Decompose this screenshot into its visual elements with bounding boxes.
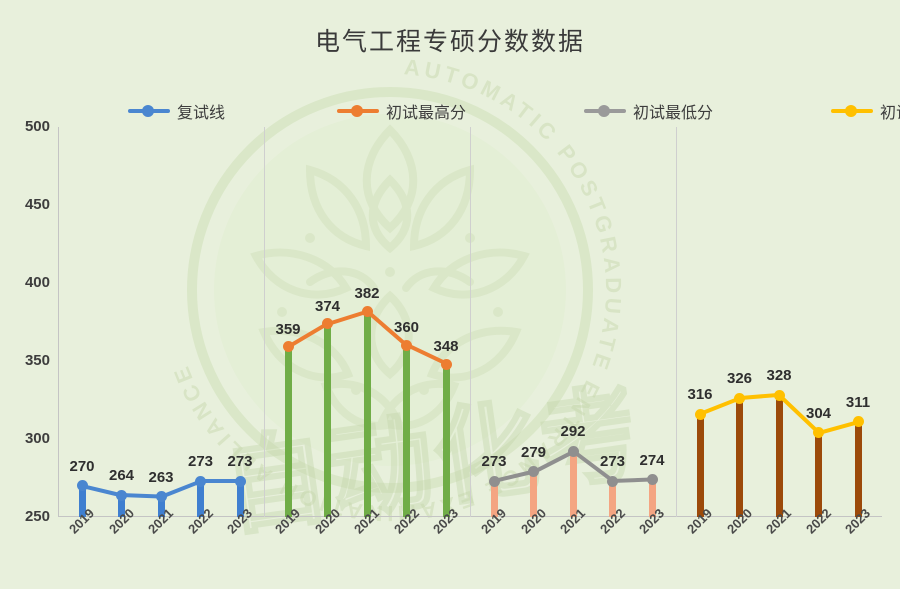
data-label: 328 bbox=[766, 367, 791, 384]
plot-area: 2503003504004505002702642632732733593743… bbox=[58, 127, 882, 517]
data-point-marker[interactable] bbox=[235, 476, 246, 487]
page-title: 电气工程专硕分数数据 bbox=[0, 22, 900, 58]
y-axis-tick: 400 bbox=[6, 274, 50, 291]
legend-marker-icon bbox=[128, 104, 170, 118]
bar[interactable] bbox=[364, 311, 371, 517]
y-axis-tick: 500 bbox=[6, 118, 50, 135]
legend-marker-icon bbox=[337, 104, 379, 118]
x-axis-labels: 2019202020212022202320192020202120222023… bbox=[58, 520, 882, 580]
legend-label: 初试最低分 bbox=[633, 99, 713, 123]
legend-marker-icon bbox=[584, 104, 626, 118]
data-label: 326 bbox=[727, 370, 752, 387]
bar[interactable] bbox=[815, 433, 822, 517]
data-point-marker[interactable] bbox=[441, 359, 452, 370]
data-point-marker[interactable] bbox=[401, 340, 412, 351]
data-label: 273 bbox=[600, 453, 625, 470]
data-label: 273 bbox=[227, 453, 252, 470]
data-point-marker[interactable] bbox=[116, 490, 127, 501]
data-label: 360 bbox=[394, 319, 419, 336]
legend-label: 初试平均分 bbox=[880, 99, 900, 123]
y-axis-tick: 350 bbox=[6, 352, 50, 369]
data-label: 264 bbox=[109, 467, 134, 484]
data-point-marker[interactable] bbox=[813, 427, 824, 438]
data-point-marker[interactable] bbox=[568, 446, 579, 457]
group-separator bbox=[470, 127, 471, 517]
y-axis-tick: 450 bbox=[6, 196, 50, 213]
data-point-marker[interactable] bbox=[195, 476, 206, 487]
data-label: 382 bbox=[354, 285, 379, 302]
data-point-marker[interactable] bbox=[734, 393, 745, 404]
legend-item-2[interactable]: 初试最低分 bbox=[584, 99, 713, 123]
data-point-marker[interactable] bbox=[774, 390, 785, 401]
chart-root: AUTOMATIC POSTGRADUATE ENTRANCE EXAMINAT… bbox=[0, 0, 900, 589]
bar[interactable] bbox=[443, 364, 450, 517]
data-point-marker[interactable] bbox=[283, 341, 294, 352]
legend-marker-icon bbox=[831, 104, 873, 118]
bar[interactable] bbox=[403, 345, 410, 517]
chart-legend: 复试线初试最高分初试最低分初试平均分 bbox=[128, 99, 888, 123]
data-label: 348 bbox=[433, 338, 458, 355]
legend-label: 复试线 bbox=[177, 99, 225, 123]
y-axis-tick: 300 bbox=[6, 430, 50, 447]
data-point-marker[interactable] bbox=[528, 466, 539, 477]
data-point-marker[interactable] bbox=[853, 416, 864, 427]
data-label: 263 bbox=[148, 469, 173, 486]
y-axis-line bbox=[58, 127, 59, 517]
data-label: 316 bbox=[687, 386, 712, 403]
bar[interactable] bbox=[697, 414, 704, 517]
y-axis-tick: 250 bbox=[6, 508, 50, 525]
data-label: 273 bbox=[481, 453, 506, 470]
legend-label: 初试最高分 bbox=[386, 99, 466, 123]
data-point-marker[interactable] bbox=[156, 491, 167, 502]
data-point-marker[interactable] bbox=[695, 409, 706, 420]
data-label: 374 bbox=[315, 298, 340, 315]
data-point-marker[interactable] bbox=[607, 476, 618, 487]
data-label: 274 bbox=[639, 452, 664, 469]
data-point-marker[interactable] bbox=[77, 480, 88, 491]
data-point-marker[interactable] bbox=[647, 474, 658, 485]
data-point-marker[interactable] bbox=[362, 306, 373, 317]
group-separator bbox=[264, 127, 265, 517]
legend-item-1[interactable]: 初试最高分 bbox=[337, 99, 466, 123]
data-label: 273 bbox=[188, 453, 213, 470]
bar[interactable] bbox=[736, 398, 743, 517]
bar[interactable] bbox=[776, 395, 783, 517]
data-label: 304 bbox=[806, 405, 831, 422]
legend-item-0[interactable]: 复试线 bbox=[128, 99, 225, 123]
data-label: 270 bbox=[69, 458, 94, 475]
data-label: 359 bbox=[275, 321, 300, 338]
bar[interactable] bbox=[324, 324, 331, 517]
group-separator bbox=[676, 127, 677, 517]
bar[interactable] bbox=[285, 347, 292, 517]
data-point-marker[interactable] bbox=[322, 318, 333, 329]
legend-item-3[interactable]: 初试平均分 bbox=[831, 99, 900, 123]
data-point-marker[interactable] bbox=[489, 476, 500, 487]
data-label: 279 bbox=[521, 444, 546, 461]
bar[interactable] bbox=[855, 422, 862, 517]
data-label: 311 bbox=[846, 394, 870, 411]
data-label: 292 bbox=[560, 423, 585, 440]
